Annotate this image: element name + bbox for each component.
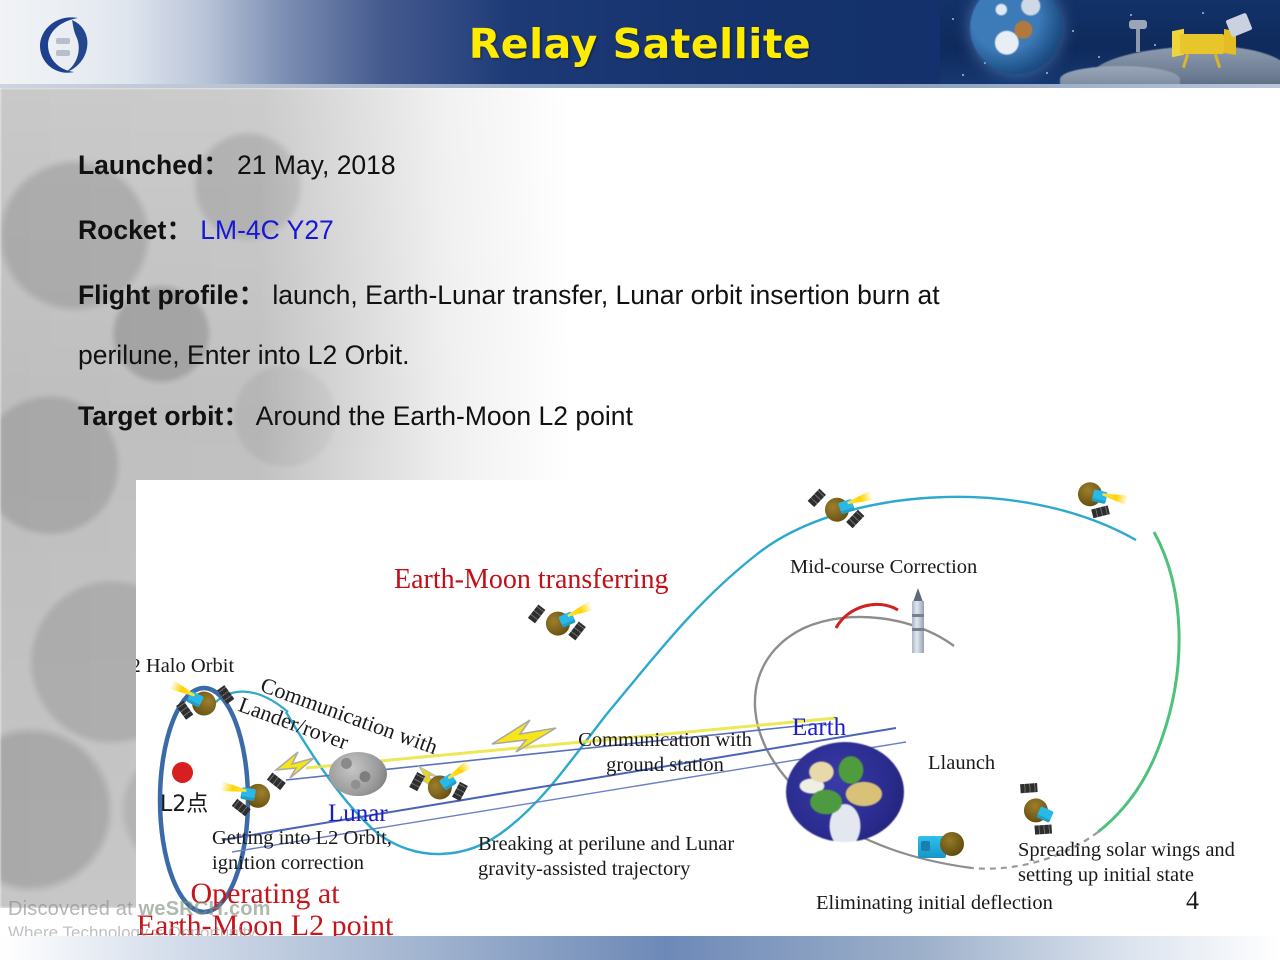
value-target-orbit: Around the Earth-Moon L2 point	[256, 401, 633, 431]
spreading-line1: Spreading solar wings and	[1018, 838, 1235, 863]
label-llaunch: Llaunch	[928, 752, 995, 775]
colon-2: ：	[238, 280, 265, 310]
colon-4: ：	[223, 401, 250, 431]
label-breaking-at-perilune: Breaking at perilune and Lunar gravity-a…	[478, 832, 734, 882]
lunar-lander-icon	[1172, 26, 1234, 68]
breaking-line2: gravity-assisted trajectory	[478, 857, 734, 882]
value-rocket: LM-4C Y27	[200, 215, 334, 245]
crescent-moon-logo	[28, 8, 100, 80]
colon-1: ：	[166, 215, 193, 245]
getting-l2-line1: Getting into L2 Orbit,	[212, 826, 392, 851]
watermark-prefix: Discovered at	[8, 898, 139, 920]
label-rocket: Rocket	[78, 215, 166, 245]
header-photo-moon-lander	[940, 0, 1280, 88]
comm-ground-line2: ground station	[540, 753, 790, 778]
label-launched: Launched	[78, 150, 203, 180]
label-l2-halo-orbit: L2 Halo Orbit	[136, 655, 234, 678]
spreading-line2: setting up initial state	[1018, 863, 1235, 888]
colon-0: ：	[203, 150, 230, 180]
value-launched: 21 May, 2018	[237, 150, 396, 180]
l2-point-marker	[172, 762, 193, 783]
label-mid-course-correction: Mid-course Correction	[790, 556, 977, 579]
getting-l2-line2: ignition correction	[212, 851, 392, 876]
label-getting-into-l2-orbit: Getting into L2 Orbit, ignition correcti…	[212, 826, 392, 876]
rover-mast-icon	[1136, 26, 1140, 52]
page-number: 4	[1186, 886, 1199, 916]
breaking-line1: Breaking at perilune and Lunar	[478, 832, 734, 857]
value-flight-profile: launch, Earth-Lunar transfer, Lunar orbi…	[272, 280, 939, 310]
watermark-brand: weSRCH.com	[139, 898, 271, 920]
label-communication-ground-station: Communication with ground station	[540, 728, 790, 778]
slide-body-text: Launched： 21 May, 2018 Rocket： LM-4C Y27…	[78, 150, 1198, 466]
info-line-target-orbit: Target orbit： Around the Earth-Moon L2 p…	[78, 401, 1198, 433]
mission-trajectory-diagram: Earth-Moon transferring Mid-course Corre…	[136, 480, 1280, 928]
label-target-orbit: Target orbit	[78, 401, 223, 431]
footer-strip	[0, 936, 1280, 960]
value-flight-profile-cont: perilune, Enter into L2 Orbit.	[78, 340, 409, 370]
label-l2-point-cn: L2点	[160, 786, 208, 818]
label-earth-moon-transferring: Earth-Moon transferring	[394, 564, 668, 596]
info-line-flight-profile: Flight profile： launch, Earth-Lunar tran…	[78, 280, 1198, 312]
label-eliminating-initial-deflection: Eliminating initial deflection	[816, 892, 1053, 915]
slide-header: Relay Satellite	[0, 0, 1280, 88]
folded-satellite-icon	[918, 830, 964, 864]
label-flight-profile: Flight profile	[78, 280, 238, 310]
launch-rocket-icon	[908, 588, 928, 654]
label-spreading-solar-wings: Spreading solar wings and setting up ini…	[1018, 838, 1235, 888]
header-divider	[0, 84, 1280, 88]
info-line-launched: Launched： 21 May, 2018	[78, 150, 1198, 182]
label-lunar: Lunar	[328, 800, 388, 828]
earth-object	[786, 742, 904, 842]
info-line-flight-profile-cont: perilune, Enter into L2 Orbit.	[78, 340, 1198, 372]
comm-ground-line1: Communication with	[540, 728, 790, 753]
slide-canvas: Relay Satellite Launched： 21 May, 2018 R…	[0, 0, 1280, 960]
label-earth: Earth	[792, 714, 846, 742]
watermark-line1: Discovered at weSRCH.com	[8, 898, 271, 921]
info-line-rocket: Rocket： LM-4C Y27	[78, 215, 1198, 247]
